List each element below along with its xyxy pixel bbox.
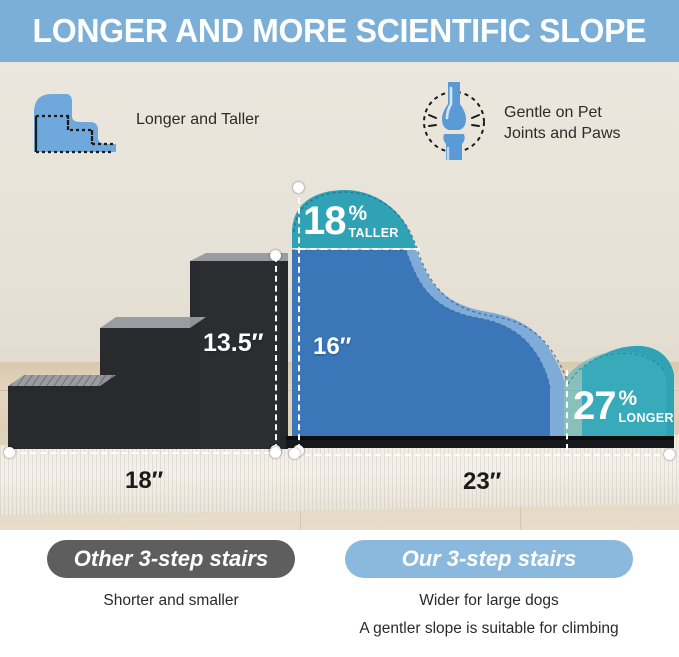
our-width-line: [295, 454, 670, 456]
pet-joint-bone-icon: [418, 82, 490, 165]
feature-label: Longer and Taller: [136, 110, 259, 130]
caption-our-line1: Wider for large dogs: [345, 592, 633, 610]
page-title: LONGER AND MORE SCIENTIFIC SLOPE: [33, 12, 647, 50]
product-scene: Longer and Taller: [0, 62, 679, 530]
comparison-section: Other 3-step stairs Our 3-step stairs Sh…: [0, 530, 679, 657]
badge-word: TALLER: [349, 226, 399, 240]
pill-our-stairs: Our 3-step stairs: [345, 540, 633, 578]
feature-gentle-joints: Gentle on Pet Joints and Paws: [418, 82, 621, 165]
header-banner: LONGER AND MORE SCIENTIFIC SLOPE: [0, 0, 679, 62]
competitor-width-label: 18″: [125, 467, 163, 495]
badge-percent-symbol: %: [349, 205, 399, 224]
badge-percent-symbol: %: [619, 390, 674, 409]
competitor-width-line: [10, 452, 280, 454]
feature-row: Longer and Taller: [0, 62, 679, 172]
longer-divider-line: [566, 370, 568, 450]
feature-longer-taller: Longer and Taller: [28, 82, 259, 159]
our-width-label: 23″: [463, 468, 501, 496]
taller-divider-line: [300, 248, 420, 250]
badge-number: 27: [573, 388, 616, 425]
caption-other: Shorter and smaller: [47, 592, 295, 610]
measure-dot: [289, 448, 300, 459]
measure-dot: [4, 447, 15, 458]
competitor-height-line: [275, 256, 277, 450]
measure-dot: [270, 447, 281, 458]
badge-word: LONGER: [619, 411, 674, 425]
badge-number: 18: [303, 203, 346, 240]
blue-steps-icon: [28, 82, 122, 159]
feature-label: Gentle on Pet Joints and Paws: [504, 103, 621, 144]
badge-18-taller: 18 % TALLER: [303, 203, 399, 240]
measure-dot: [293, 182, 304, 193]
pill-label: Other 3-step stairs: [74, 546, 268, 572]
competitor-height-label: 13.5″: [203, 329, 264, 358]
measure-dot: [664, 449, 675, 460]
caption-our-line2: A gentler slope is suitable for climbing: [320, 620, 658, 638]
pill-label: Our 3-step stairs: [402, 546, 577, 572]
badge-27-longer: 27 % LONGER: [573, 388, 674, 425]
pill-other-stairs: Other 3-step stairs: [47, 540, 295, 578]
measure-dot: [270, 250, 281, 261]
our-height-line: [298, 188, 300, 450]
our-height-label: 16″: [313, 333, 351, 361]
